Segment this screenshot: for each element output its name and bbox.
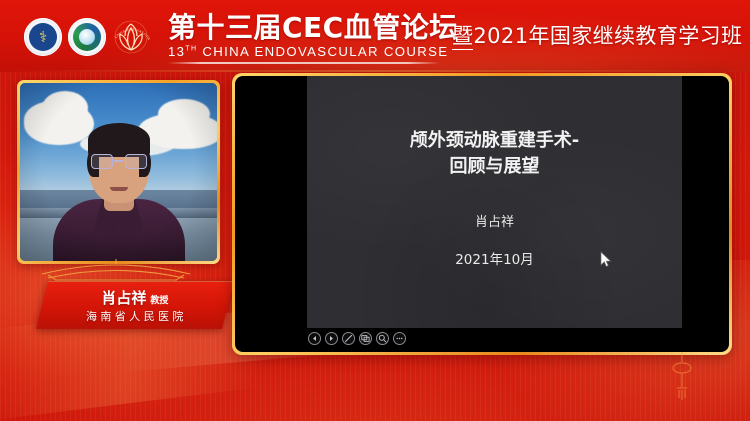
next-arrow-icon[interactable] [325,332,338,345]
subtitle-prefix-char: 暨 [452,24,473,50]
presentation-letterbox: 颅外颈动脉重建手术- 回顾与展望 肖占祥 2021年10月 [235,76,729,352]
slide-title: 颅外颈动脉重建手术- 回顾与展望 [307,128,682,179]
slide-author: 肖占祥 [307,216,682,229]
event-title-main: 第十三届CEC血管论坛 [168,14,458,42]
video-bg-cloud [42,91,88,125]
speaker-affiliation: 海南省人民医院 [83,311,187,322]
cec-lotus-logo: China Endovascular Course [112,18,150,56]
speaker-video-feed [20,83,217,261]
event-title-sub-text: CHINA ENDOVASCULAR COURSE [202,44,448,59]
hospital-emblem-logo: ⚕ [24,18,62,56]
pen-annotate-icon[interactable] [342,332,355,345]
society-emblem-logo [68,18,106,56]
title-underline [168,62,440,64]
subtitle-rest: 2021年国家继续教育学习班 [473,24,742,48]
event-edition-ordinal: TH [185,46,197,53]
slides-grid-icon[interactable] [359,332,372,345]
previous-arrow-icon[interactable] [308,332,321,345]
more-ellipsis-icon[interactable] [393,332,406,345]
magnifier-zoom-icon[interactable] [376,332,389,345]
event-edition-number: 13 [168,44,185,59]
speaker-title: 教授 [150,296,168,306]
speaker-glasses-icon [125,154,147,169]
slide-title-line1: 颅外颈动脉重建手术- [410,130,579,151]
speaker-figure [53,133,185,261]
slide-title-line2: 回顾与展望 [450,156,540,177]
speaker-glasses-icon [91,154,113,169]
slide-date: 2021年10月 [307,254,682,268]
svg-text:China Endovascular Course: China Endovascular Course [110,17,152,41]
speaker-name-row: 肖占祥教授 [101,290,168,308]
event-title-sub: 13TH CHINA ENDOVASCULAR COURSE [168,45,448,58]
speaker-nameplate: 肖占祥教授 海南省人民医院 [36,281,234,329]
event-header-banner: ⚕ China Endovascular Course [0,0,750,72]
event-subtitle-right: 暨2021年国家继续教育学习班 [452,26,742,47]
presentation-panel[interactable]: 颅外颈动脉重建手术- 回顾与展望 肖占祥 2021年10月 [232,73,732,355]
speaker-video-tile[interactable] [17,80,220,264]
lantern-ornament [668,352,696,408]
speaker-name: 肖占祥 [101,289,146,307]
slide-toolbar[interactable] [308,332,406,345]
video-bg-cloud [158,99,210,129]
slide-canvas[interactable]: 颅外颈动脉重建手术- 回顾与展望 肖占祥 2021年10月 [307,76,682,328]
broadcast-stage: ⚕ China Endovascular Course [0,0,750,421]
